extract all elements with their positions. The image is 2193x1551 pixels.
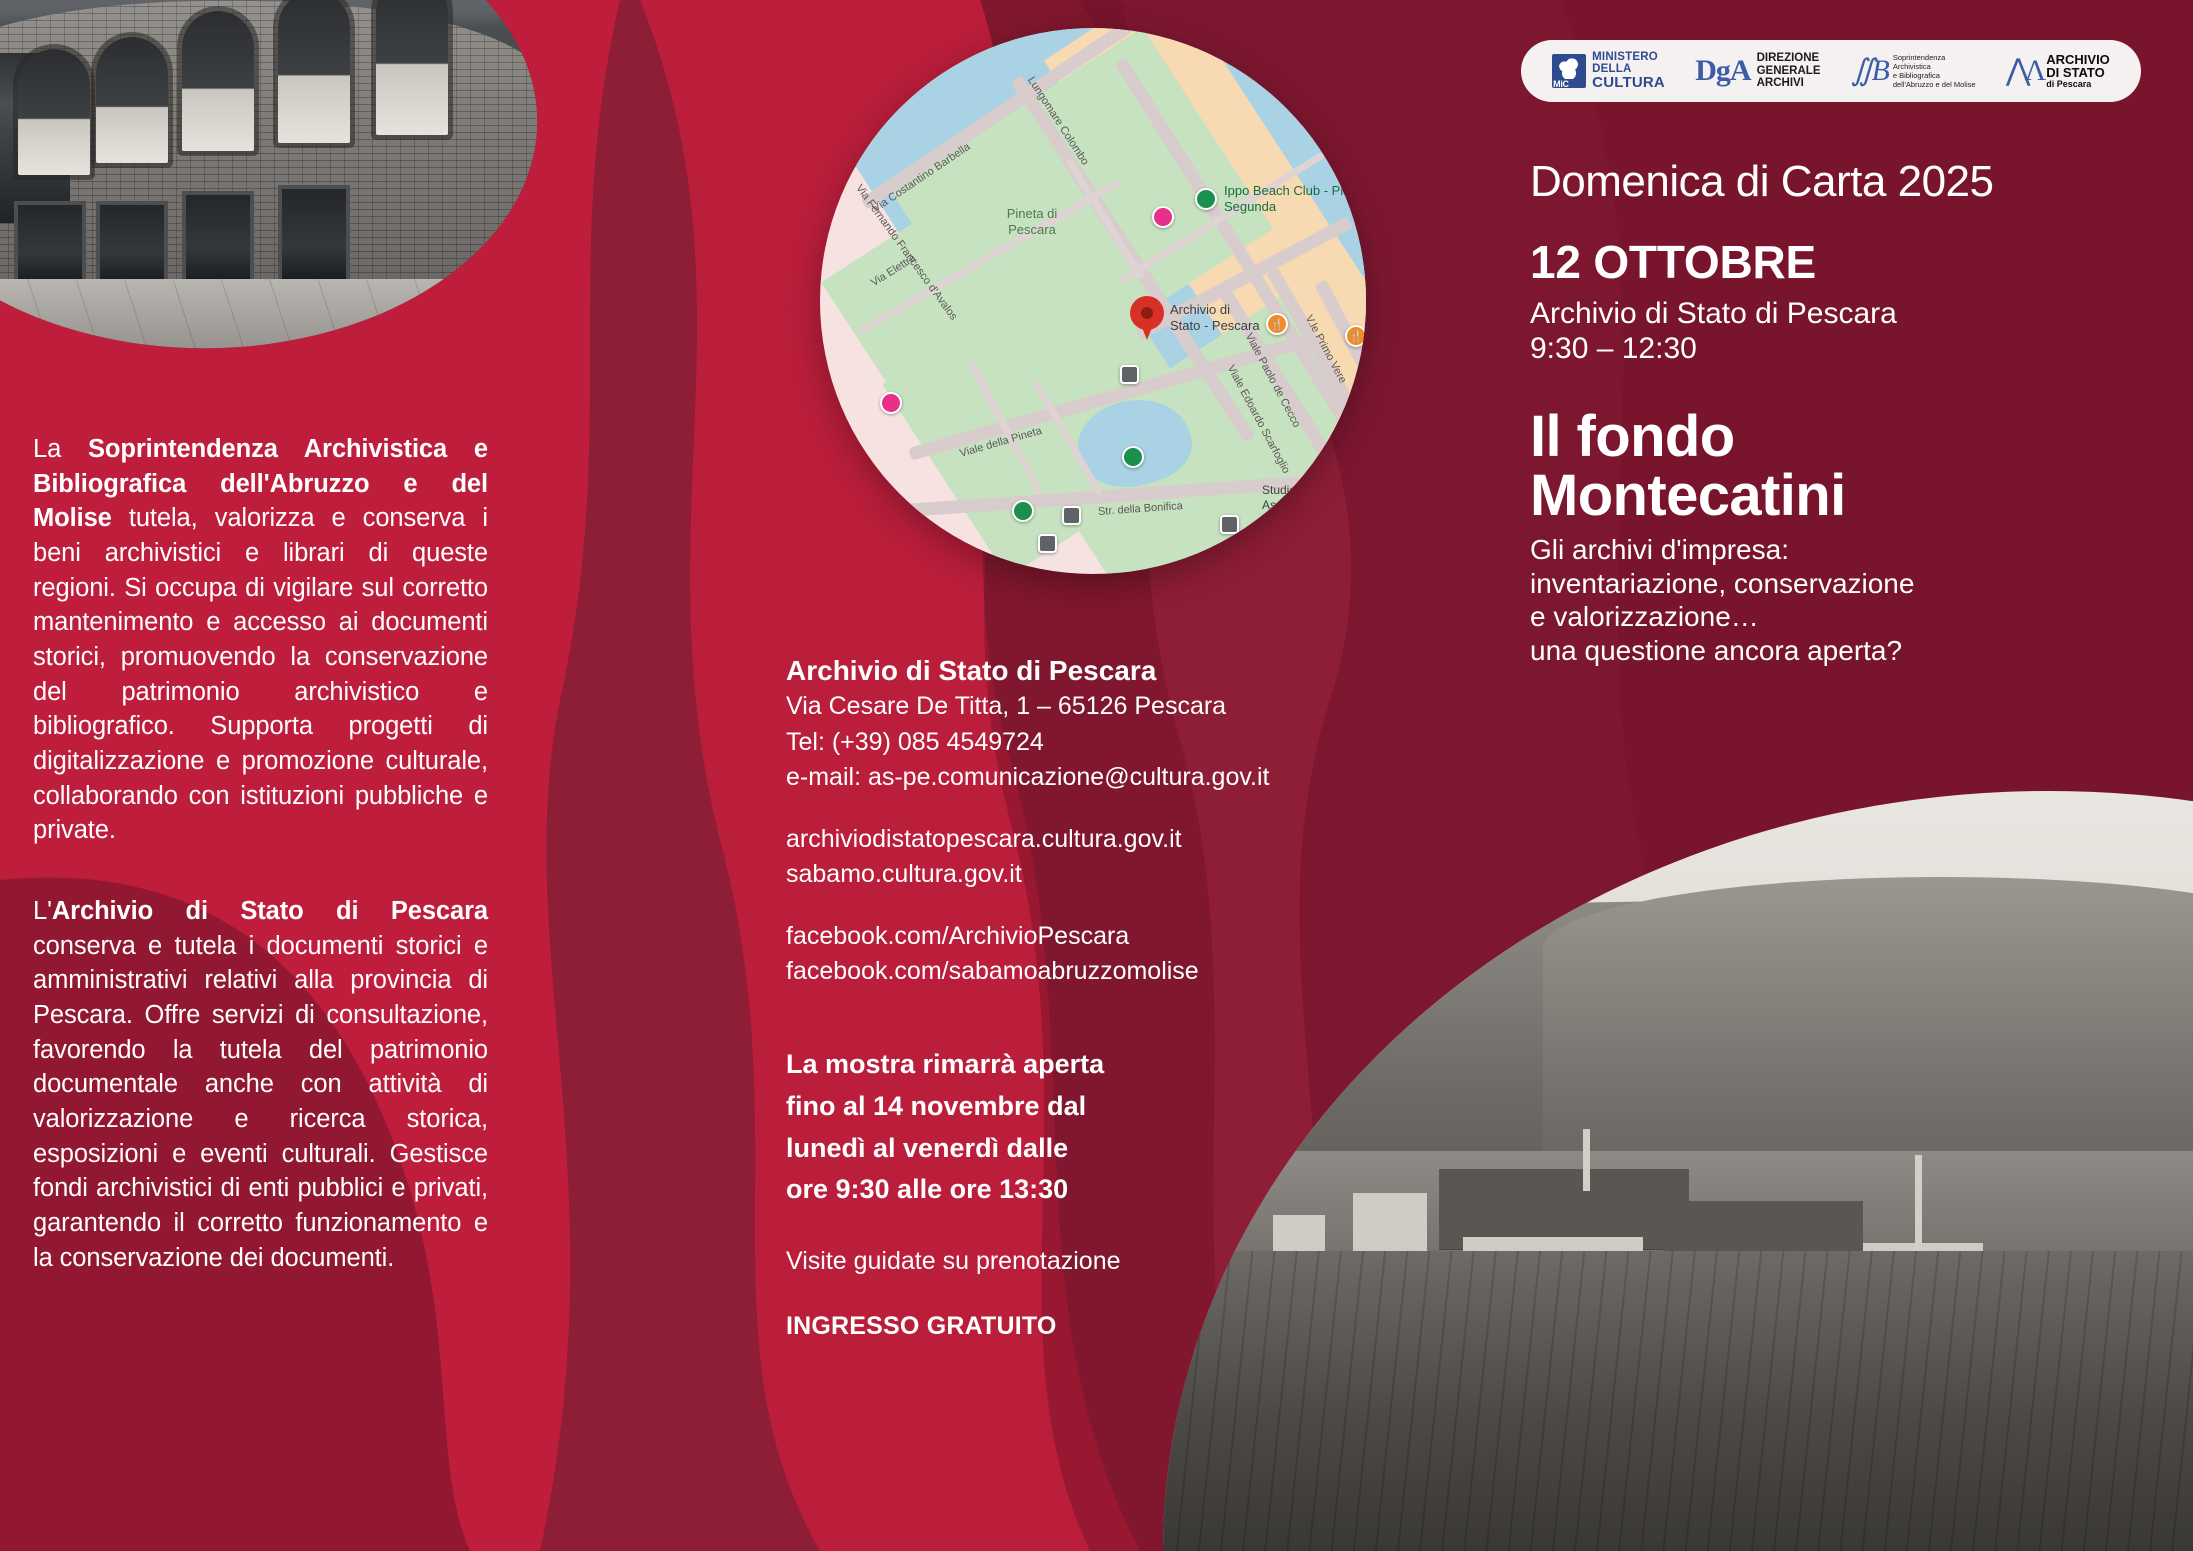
map-poi-restaurant-icon[interactable]: 🍴 — [1345, 325, 1366, 347]
paragraph-soprintendenza: La Soprintendenza Archivistica e Bibliog… — [33, 432, 488, 848]
map-poi-transit-icon[interactable] — [1120, 365, 1139, 384]
spacer — [786, 893, 1306, 919]
para-bold: Archivio di Stato di Pescara — [52, 897, 488, 925]
website-link-archivio[interactable]: archiviodistatopescara.cultura.gov.it — [786, 822, 1306, 858]
map-pin-icon[interactable] — [1130, 296, 1164, 340]
logo-text: DIREZIONE GENERALE ARCHIVI — [1757, 52, 1821, 91]
event-time: 9:30 – 12:30 — [1530, 331, 2170, 366]
event-details-column: Domenica di Carta 2025 12 OTTOBRE Archiv… — [1530, 158, 2170, 667]
archivio-monogram-icon: ⋀Λ — [2006, 56, 2040, 86]
logo-direzione-generale-archivi: DgA DIREZIONE GENERALE ARCHIVI — [1695, 52, 1820, 91]
logo-ministero-della-cultura: MINISTERO DELLA CULTURA — [1552, 52, 1665, 90]
map-poi-transit-icon[interactable] — [1220, 515, 1239, 534]
event-series-title: Domenica di Carta 2025 — [1530, 158, 2170, 206]
map-canvas: Via Costantino Barbella Lungomare Colomb… — [820, 28, 1366, 574]
para-pre: L' — [33, 897, 52, 925]
contact-address: Via Cesare De Titta, 1 – 65126 Pescara — [786, 689, 1306, 725]
logo-archivio-di-stato-pescara: ⋀Λ ARCHIVIO DI STATO di Pescara — [2006, 53, 2110, 89]
description-column: La Soprintendenza Archivistica e Bibliog… — [33, 432, 488, 1275]
paragraph-archivio: L'Archivio di Stato di Pescara conserva … — [33, 894, 488, 1275]
mic-emblem-icon — [1552, 54, 1586, 88]
map-poi-hotel-icon[interactable] — [1152, 206, 1174, 228]
contact-org-name: Archivio di Stato di Pescara — [786, 653, 1306, 689]
logo-text: MINISTERO DELLA CULTURA — [1592, 52, 1665, 90]
guided-tours-note: Visite guidate su prenotazione — [786, 1247, 1306, 1276]
location-map[interactable]: Via Costantino Barbella Lungomare Colomb… — [820, 28, 1366, 574]
website-link-sabamo[interactable]: sabamo.cultura.gov.it — [786, 857, 1306, 893]
event-venue: Archivio di Stato di Pescara — [1530, 296, 2170, 331]
map-poi-park-icon[interactable] — [1122, 446, 1144, 468]
map-poi-green-icon[interactable] — [1012, 500, 1034, 522]
sab-monogram-icon: ∬B — [1851, 56, 1887, 86]
para-rest: tutela, valorizza e conserva i beni arch… — [33, 504, 488, 844]
contact-phone[interactable]: Tel: (+39) 085 4549724 — [786, 725, 1306, 761]
event-subtitle: Gli archivi d'impresa: inventariazione, … — [1530, 533, 2170, 667]
free-entry-badge: INGRESSO GRATUITO — [786, 1312, 1306, 1341]
photo-hills — [1543, 877, 2193, 1177]
spacer — [786, 796, 1306, 822]
map-poi-transit-icon[interactable] — [1038, 534, 1057, 553]
facebook-link-archivio[interactable]: facebook.com/ArchivioPescara — [786, 919, 1306, 955]
contact-email[interactable]: e-mail: as-pe.comunicazione@cultura.gov.… — [786, 760, 1306, 796]
map-poi-green-icon[interactable] — [1195, 188, 1217, 210]
map-park-label: Pineta di Pescara — [972, 206, 1092, 239]
exhibition-opening-hours: La mostra rimarrà aperta fino al 14 nove… — [786, 1044, 1306, 1211]
logo-text: ARCHIVIO DI STATO di Pescara — [2046, 53, 2110, 89]
facebook-link-sabamo[interactable]: facebook.com/sabamoabruzzomolise — [786, 954, 1306, 990]
logo-soprintendenza-archivistica: ∬B Soprintendenza Archivistica e Bibliog… — [1851, 53, 1976, 90]
dga-monogram-icon: DgA — [1695, 56, 1750, 86]
para-pre: La — [33, 435, 88, 463]
contact-column: Archivio di Stato di Pescara Via Cesare … — [786, 653, 1306, 1341]
map-poi-transit-icon[interactable] — [1062, 506, 1081, 525]
logo-text: Soprintendenza Archivistica e Bibliograf… — [1893, 53, 1976, 90]
event-date: 12 OTTOBRE — [1530, 238, 2170, 286]
para-rest: conserva e tutela i documenti storici e … — [33, 932, 488, 1272]
map-poi-label: Ippo Beach Club - Playa Segunda — [1224, 183, 1366, 216]
map-poi-label: Studio T. Associato — [1262, 483, 1314, 513]
institutional-logo-bar: MINISTERO DELLA CULTURA DgA DIREZIONE GE… — [1521, 40, 2141, 102]
map-pin-label: Archivio di Stato - Pescara — [1170, 302, 1260, 335]
event-main-title: Il fondo Montecatini — [1530, 407, 2170, 525]
map-poi-restaurant-icon[interactable]: 🍴 — [1266, 313, 1288, 335]
map-poi-hotel-icon[interactable] — [880, 392, 902, 414]
photo-fields — [1163, 1251, 2193, 1551]
